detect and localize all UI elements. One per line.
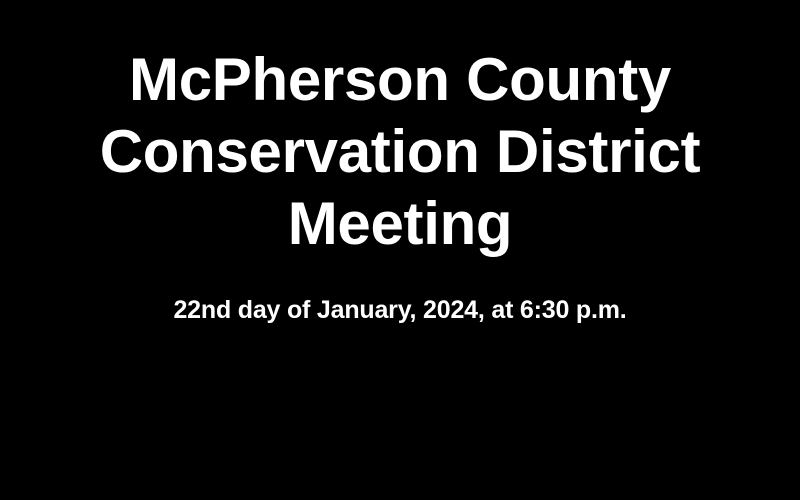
announcement-card: McPherson County Conservation District M… xyxy=(0,0,800,500)
title-line-3: Meeting xyxy=(30,188,770,260)
title-line-1: McPherson County xyxy=(30,44,770,116)
page-title: McPherson County Conservation District M… xyxy=(30,44,770,260)
subtitle: 22nd day of January, 2024, at 6:30 p.m. xyxy=(30,294,770,326)
event-datetime-text: 22nd day of January, 2024, at 6:30 p.m. xyxy=(173,294,626,326)
empty-lower-area xyxy=(0,326,800,500)
title-line-2: Conservation District xyxy=(30,116,770,188)
